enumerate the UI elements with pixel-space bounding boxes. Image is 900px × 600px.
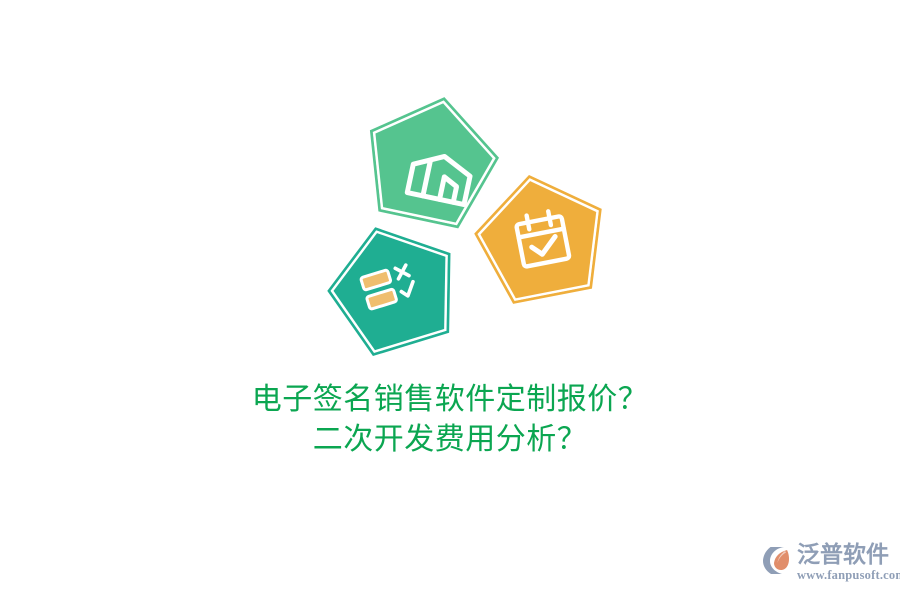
page-canvas: 电子签名销售软件定制报价？ 二次开发费用分析？ 泛普软件 www.fanpuso… [0,0,900,600]
headline: 电子签名销售软件定制报价？ 二次开发费用分析？ [0,380,900,460]
pentagon-bottomleft-teal [316,210,471,361]
watermark-brand: 泛普软件 [797,543,900,567]
fanpu-logo-icon [762,544,794,576]
headline-line-1: 电子签名销售软件定制报价？ [0,380,900,420]
watermark-url: www.fanpusoft.com [797,568,900,583]
watermark-logo: 泛普软件 www.fanpusoft.com [762,534,894,592]
headline-line-2: 二次开发费用分析？ [0,420,900,460]
pentagon-cluster-graphic [300,70,630,385]
watermark-text-block: 泛普软件 www.fanpusoft.com [797,543,900,583]
pentagon-right-orange [467,164,614,307]
